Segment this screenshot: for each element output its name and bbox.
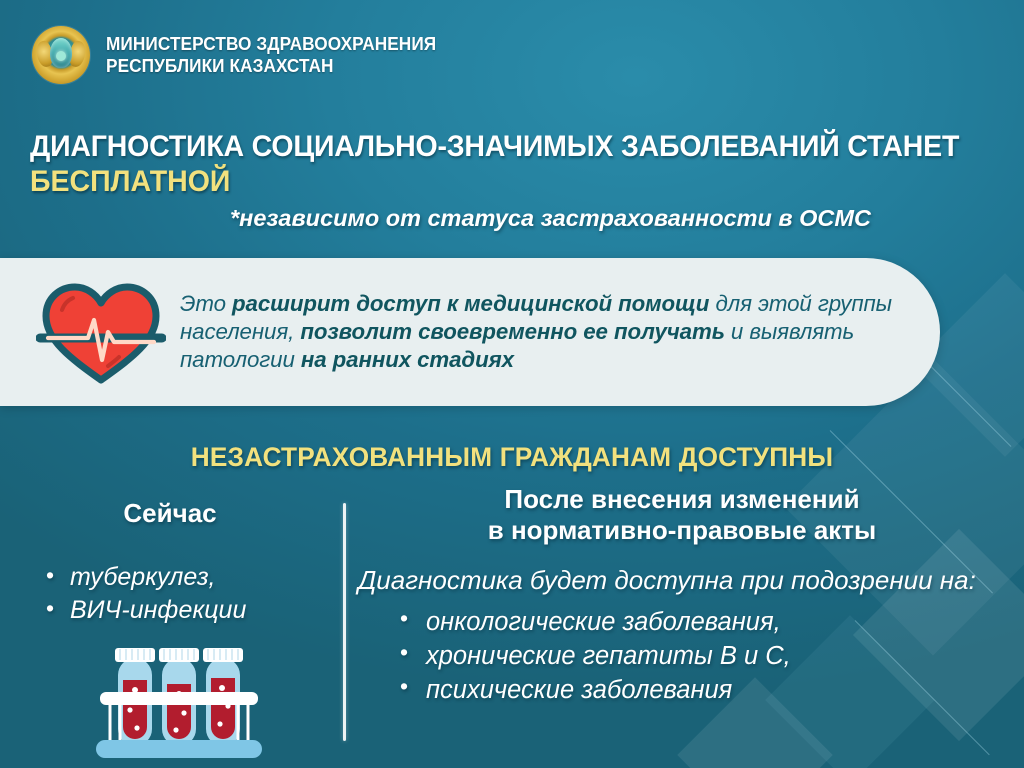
ministry-name-line1: МИНИСТЕРСТВО ЗДРАВООХРАНЕНИЯ: [106, 33, 436, 55]
headline: ДИАГНОСТИКА СОЦИАЛЬНО-ЗНАЧИМЫХ ЗАБОЛЕВАН…: [30, 132, 990, 197]
list-item: онкологические заболевания,: [400, 605, 1006, 639]
kazakhstan-emblem-icon: [32, 26, 90, 84]
column-current-list: туберкулез, ВИЧ-инфекции: [0, 561, 340, 627]
column-after-lead: Диагностика будет доступна при подозрени…: [358, 564, 1006, 597]
column-current-heading: Сейчас: [0, 498, 340, 529]
column-after-heading: После внесения изменений в нормативно-пр…: [358, 484, 1006, 546]
infographic-poster: МИНИСТЕРСТВО ЗДРАВООХРАНЕНИЯ РЕСПУБЛИКИ …: [0, 0, 1024, 768]
list-item: хронические гепатиты B и C,: [400, 639, 1006, 673]
column-current: Сейчас туберкулез, ВИЧ-инфекции: [0, 498, 340, 627]
headline-footnote: *независимо от статуса застрахованности …: [230, 205, 871, 232]
test-tubes-icon: [88, 640, 268, 765]
list-item: ВИЧ-инфекции: [46, 594, 340, 627]
ministry-header: МИНИСТЕРСТВО ЗДРАВООХРАНЕНИЯ РЕСПУБЛИКИ …: [32, 26, 461, 84]
benefit-panel-text: Это расширит доступ к медицинской помощи…: [180, 290, 910, 375]
ministry-name-line2: РЕСПУБЛИКИ КАЗАХСТАН: [106, 55, 436, 77]
headline-line2-free: БЕСПЛАТНОЙ: [30, 167, 942, 198]
column-after-heading-line1: После внесения изменений: [358, 484, 1006, 515]
column-divider: [343, 503, 346, 741]
heart-ecg-icon: [36, 276, 166, 388]
list-item: туберкулез,: [46, 561, 340, 594]
headline-line1: ДИАГНОСТИКА СОЦИАЛЬНО-ЗНАЧИМЫХ ЗАБОЛЕВАН…: [30, 132, 942, 163]
column-after-list: онкологические заболевания, хронические …: [358, 605, 1006, 707]
column-after-heading-line2: в нормативно-правовые акты: [358, 515, 1006, 546]
benefit-panel: Это расширит доступ к медицинской помощи…: [0, 258, 940, 406]
band-title: НЕЗАСТРАХОВАННЫМ ГРАЖДАНАМ ДОСТУПНЫ: [15, 442, 1008, 473]
column-after-changes: После внесения изменений в нормативно-пр…: [358, 484, 1006, 707]
list-item: психические заболевания: [400, 673, 1006, 707]
ministry-name: МИНИСТЕРСТВО ЗДРАВООХРАНЕНИЯ РЕСПУБЛИКИ …: [106, 33, 436, 77]
